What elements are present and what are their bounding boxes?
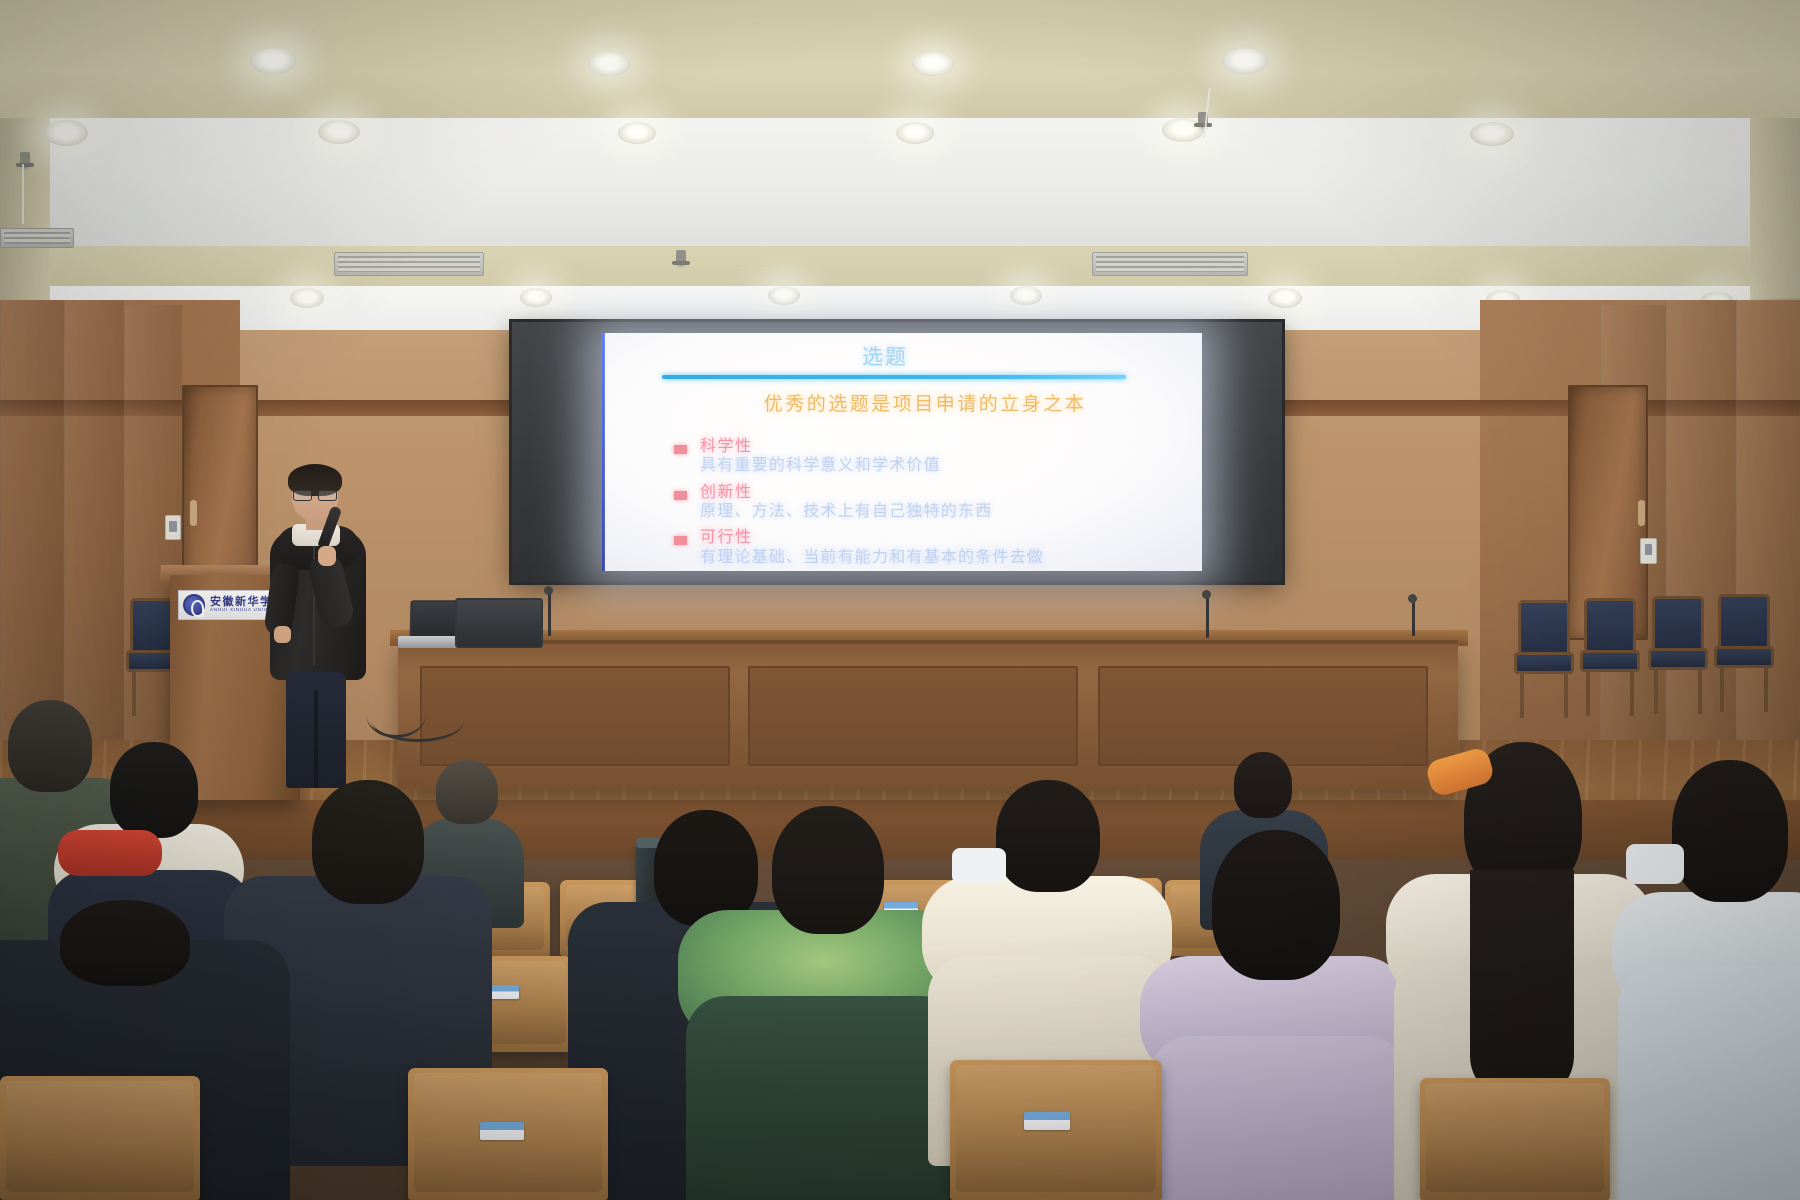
chair-seat: [1714, 646, 1774, 668]
chair-legs: [1720, 666, 1768, 712]
presentation-slide: 选题 优秀的选题是项目申请的立身之本 科学性 具有重要的科学意义和学术价值 创新…: [604, 333, 1202, 571]
attendee-head: [8, 700, 92, 792]
attendee-coat: [686, 996, 962, 1200]
ceiling-downlight: [44, 120, 88, 146]
seat-number-tag: [1024, 1112, 1070, 1130]
slide-subtitle: 优秀的选题是项目申请的立身之本: [660, 389, 1190, 416]
ceiling-downlight: [896, 122, 934, 144]
attendee-ponytail: [1470, 870, 1574, 1100]
ceiling-sprinkler: [676, 250, 686, 264]
chair-back: [1518, 600, 1570, 656]
ceiling-band-middle: [0, 246, 1800, 288]
laptop-secondary[interactable]: [455, 598, 543, 648]
seat-number-tag: [480, 1122, 524, 1140]
attendee-head: [110, 742, 198, 838]
slide-bullet-item: 科学性 具有重要的科学意义和学术价值: [670, 438, 1190, 476]
presenter-left-hand: [274, 626, 291, 643]
chair-seat: [1514, 652, 1574, 674]
wall-switch-plate-right[interactable]: [1640, 538, 1657, 564]
ceiling-downlight: [618, 122, 656, 144]
attendee-head: [1672, 760, 1788, 902]
door-handle-left[interactable]: [190, 500, 197, 526]
ceiling-downlight: [588, 52, 630, 76]
table-microphone-stand[interactable]: [548, 592, 551, 636]
slide-title: 选题: [604, 341, 1166, 371]
wall-switch-plate-left[interactable]: [165, 515, 181, 540]
eyeglasses-icon: [293, 490, 337, 499]
presenter: [262, 468, 372, 788]
slide-title-underline: [662, 375, 1126, 379]
stage-chair[interactable]: [1712, 594, 1776, 714]
auditorium-seat[interactable]: [0, 1076, 200, 1200]
head-table-panel: [748, 666, 1078, 766]
table-microphone-head: [544, 586, 553, 595]
ceiling-downlight: [1268, 288, 1302, 308]
ceiling-downlight: [520, 288, 552, 307]
presenter-trousers: [286, 672, 346, 788]
door-handle-right[interactable]: [1638, 500, 1645, 526]
attendee-head: [436, 760, 498, 824]
red-scarf: [58, 830, 162, 876]
ceiling-downlight: [768, 286, 800, 305]
ceiling-downlight: [250, 48, 296, 74]
ceiling-cable: [22, 164, 24, 224]
ceiling-downlight: [318, 120, 360, 144]
lecture-hall-photo: 选题 优秀的选题是项目申请的立身之本 科学性 具有重要的科学意义和学术价值 创新…: [0, 0, 1800, 1200]
university-crest-icon: [183, 594, 205, 616]
bullet-detail: 原理、方法、技术上有自己独特的东西: [700, 502, 1190, 521]
attendee-head: [1234, 752, 1292, 818]
chair-legs: [1586, 670, 1634, 716]
ceiling-air-vent: [0, 228, 74, 248]
bullet-heading: 科学性: [700, 438, 1190, 456]
presenter-right-hand: [318, 546, 336, 566]
chair-back: [1584, 598, 1636, 654]
chair-back: [1718, 594, 1770, 650]
chair-seat: [1648, 648, 1708, 670]
ceiling-downlight: [912, 52, 954, 76]
table-microphone-stand[interactable]: [1412, 600, 1415, 636]
bullet-square-icon: [674, 491, 687, 500]
auditorium-seat[interactable]: [1420, 1078, 1610, 1200]
bullet-square-icon: [674, 445, 687, 454]
ceiling-downlight: [1470, 122, 1514, 146]
slide-bullet-item: 可行性 有理论基础、当前有能力和有基本的条件去做: [670, 529, 1190, 567]
attendee-head: [654, 810, 758, 926]
attendee-head: [772, 806, 884, 934]
head-table: [398, 640, 1458, 790]
auditorium-seat[interactable]: [950, 1060, 1162, 1200]
chair-back: [1652, 596, 1704, 652]
attendee-coat: [1150, 1036, 1406, 1200]
table-microphone-stand[interactable]: [1206, 596, 1209, 638]
table-microphone-head: [1202, 590, 1211, 599]
slide-bullet-list: 科学性 具有重要的科学意义和学术价值 创新性 原理、方法、技术上有自己独特的东西…: [670, 438, 1190, 575]
chair-seat: [1580, 650, 1640, 672]
head-table-panel: [1098, 666, 1428, 766]
face-mask-icon: [952, 848, 1006, 884]
ceiling-air-vent: [334, 252, 484, 276]
bullet-heading: 可行性: [700, 529, 1190, 547]
bullet-heading: 创新性: [700, 484, 1190, 502]
slide-bullet-item: 创新性 原理、方法、技术上有自己独特的东西: [670, 484, 1190, 522]
ceiling-downlight: [1010, 286, 1042, 305]
face-mask-icon: [1626, 844, 1684, 884]
head-table-panel: [420, 666, 730, 766]
stage-chair[interactable]: [1646, 596, 1710, 716]
attendee-coat: [1618, 966, 1800, 1200]
stage-chair[interactable]: [1578, 598, 1642, 718]
projection-screen: 选题 优秀的选题是项目申请的立身之本 科学性 具有重要的科学意义和学术价值 创新…: [602, 333, 1202, 571]
bullet-square-icon: [674, 536, 687, 545]
attendee-head: [60, 900, 190, 986]
attendee-head: [312, 780, 424, 904]
table-microphone-head: [1408, 594, 1417, 603]
bullet-detail: 有理论基础、当前有能力和有基本的条件去做: [700, 548, 1190, 567]
chair-legs: [1654, 668, 1702, 714]
chair-legs: [1520, 672, 1568, 718]
ceiling-downlight: [1222, 48, 1268, 74]
stage-chair[interactable]: [1512, 600, 1576, 720]
attendee-head: [1212, 830, 1340, 980]
ceiling-downlight: [290, 288, 324, 308]
attendee-head: [996, 780, 1100, 892]
floor-cable: [372, 700, 464, 742]
bullet-detail: 具有重要的科学意义和学术价值: [700, 456, 1190, 475]
ceiling-air-vent: [1092, 252, 1248, 276]
